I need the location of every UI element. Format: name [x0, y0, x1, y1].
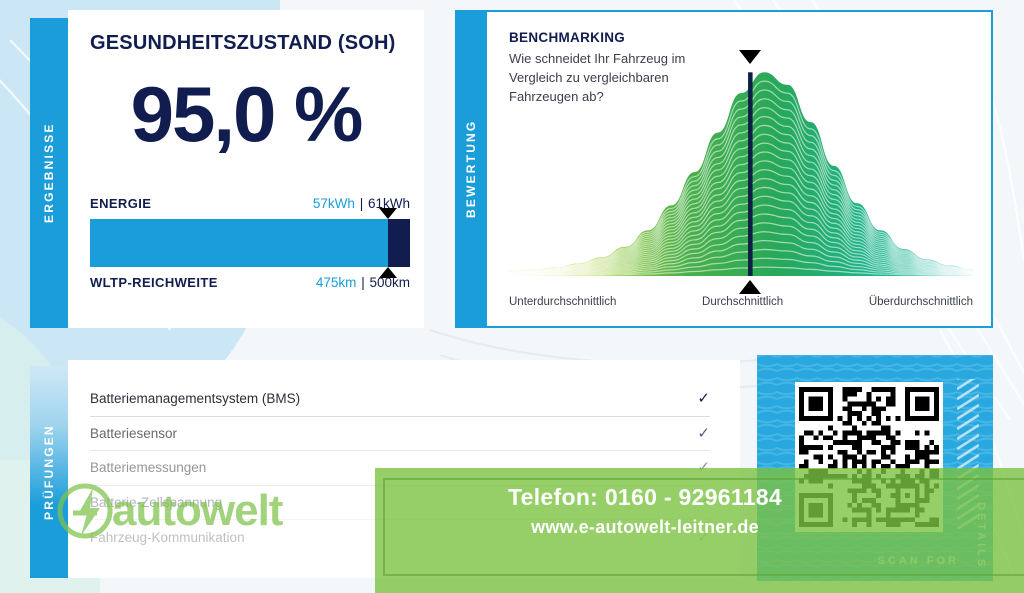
soh-progress-fill — [90, 219, 388, 267]
soh-value: 95,0 % — [68, 69, 424, 160]
energy-metric-row: ENERGIE 57kWh | 61kWh — [90, 196, 410, 211]
benchmark-panel: BENCHMARKING Wie schneidet Ihr Fahrzeug … — [485, 10, 993, 328]
check-row: Batteriesensor✓ — [90, 417, 710, 452]
energy-label: ENERGIE — [90, 196, 151, 211]
bar-marker-top-icon — [379, 208, 397, 219]
range-current: 475km — [316, 275, 357, 290]
soh-progress-bar — [90, 219, 410, 267]
axis-label-above-average: Überdurchschnittlich — [869, 296, 973, 308]
soh-title: GESUNDHEITSZUSTAND (SOH) — [90, 32, 424, 55]
sidebar-tab-pruefungen: PRÜFUNGEN — [30, 366, 68, 578]
bar-marker-bottom-icon — [379, 267, 397, 278]
check-row-label: Batteriemanagementsystem (BMS) — [90, 391, 300, 406]
range-label: WLTP-REICHWEITE — [90, 275, 218, 290]
sidebar-tab-ergebnisse-label: ERGEBNISSE — [42, 123, 56, 224]
axis-label-below-average: Unterdurchschnittlich — [509, 296, 616, 308]
sidebar-tab-bewertung: BEWERTUNG — [455, 10, 487, 328]
sidebar-tab-ergebnisse: ERGEBNISSE — [30, 18, 68, 328]
results-panel: GESUNDHEITSZUSTAND (SOH) 95,0 % ENERGIE … — [68, 10, 424, 328]
range-metric-row: WLTP-REICHWEITE 475km | 500km — [90, 275, 410, 290]
contact-text-block: Telefon: 0160 - 92961184 www.e-autowelt-… — [375, 484, 915, 538]
check-mark-icon: ✓ — [697, 426, 710, 441]
benchmark-axis-labels: Unterdurchschnittlich Durchschnittlich Ü… — [509, 296, 973, 308]
energy-current: 57kWh — [313, 196, 355, 211]
check-row: Batteriemanagementsystem (BMS)✓ — [90, 382, 710, 417]
contact-overlay: Telefon: 0160 - 92961184 www.e-autowelt-… — [375, 468, 1024, 593]
benchmark-marker-bottom-icon — [739, 280, 761, 294]
contact-phone: Telefon: 0160 - 92961184 — [375, 484, 915, 511]
check-row-label: Batteriesensor — [90, 426, 177, 441]
check-row-label: Batterie-Zellspannung — [90, 495, 222, 510]
sidebar-tab-bewertung-label: BEWERTUNG — [464, 120, 478, 218]
check-row-label: Batteriemessungen — [90, 460, 206, 475]
axis-label-average: Durchschnittlich — [702, 296, 783, 308]
bell-curve-chart — [509, 66, 973, 276]
energy-separator: | — [359, 196, 365, 211]
sidebar-tab-pruefungen-label: PRÜFUNGEN — [42, 424, 56, 520]
benchmark-marker-top-icon — [739, 50, 761, 64]
contact-website: www.e-autowelt-leitner.de — [375, 517, 915, 538]
check-mark-icon: ✓ — [697, 391, 710, 406]
infographic-canvas: ERGEBNISSE GESUNDHEITSZUSTAND (SOH) 95,0… — [0, 0, 1024, 593]
range-separator: | — [360, 275, 366, 290]
benchmark-title: BENCHMARKING — [509, 30, 991, 45]
soh-bar-wrapper — [90, 219, 410, 267]
check-row-label: Fahrzeug-Kommunikation — [90, 530, 245, 545]
